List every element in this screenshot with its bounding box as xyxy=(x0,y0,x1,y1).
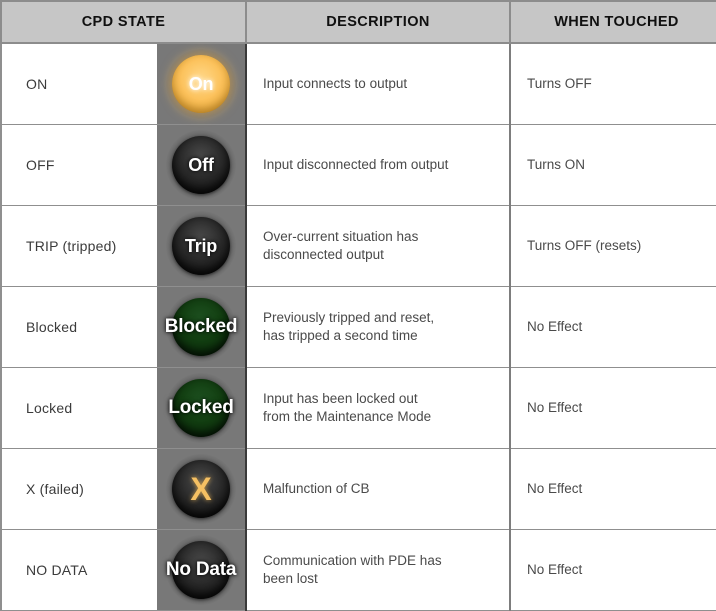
table-row: LockedLockedInput has been locked outfro… xyxy=(1,368,716,449)
indicator-band: Off xyxy=(157,125,245,205)
led-label: Trip xyxy=(185,236,217,257)
column-header-when-touched: WHEN TOUCHED xyxy=(510,1,716,43)
description-line: Input has been locked out xyxy=(263,390,495,408)
state-label: Blocked xyxy=(2,287,157,367)
description-line: Previously tripped and reset, xyxy=(263,309,495,327)
cell-description: Malfunction of CB xyxy=(246,449,510,530)
led-label: Blocked xyxy=(165,316,238,338)
cell-description: Input disconnected from output xyxy=(246,125,510,206)
column-header-description: DESCRIPTION xyxy=(246,1,510,43)
led-indicator-icon[interactable]: Locked xyxy=(172,379,230,437)
cell-when-touched: Turns ON xyxy=(510,125,716,206)
indicator-band: No Data xyxy=(157,530,245,610)
cell-description: Input has been locked outfrom the Mainte… xyxy=(246,368,510,449)
led-indicator-icon[interactable]: No Data xyxy=(172,541,230,599)
led-label: Locked xyxy=(168,397,233,419)
cell-when-touched: Turns OFF xyxy=(510,43,716,125)
led-indicator-icon[interactable]: Blocked xyxy=(172,298,230,356)
cell-cpd-state: BlockedBlocked xyxy=(1,287,246,368)
state-label: OFF xyxy=(2,125,157,205)
cell-cpd-state: X (failed)X xyxy=(1,449,246,530)
cell-description: Previously tripped and reset,has tripped… xyxy=(246,287,510,368)
table-row: NO DATANo DataCommunication with PDE has… xyxy=(1,530,716,611)
state-label: ON xyxy=(2,44,157,124)
cell-when-touched: Turns OFF (resets) xyxy=(510,206,716,287)
when-touched-text: Turns OFF (resets) xyxy=(527,238,641,253)
when-touched-text: Turns ON xyxy=(527,157,585,172)
cpd-state-table: CPD STATE DESCRIPTION WHEN TOUCHED ONOnI… xyxy=(0,0,716,611)
description-line: has tripped a second time xyxy=(263,327,495,345)
description-line: Malfunction of CB xyxy=(263,480,495,498)
cell-cpd-state: TRIP (tripped)Trip xyxy=(1,206,246,287)
led-indicator-icon[interactable]: On xyxy=(172,55,230,113)
cell-cpd-state: ONOn xyxy=(1,43,246,125)
cell-description: Over-current situation hasdisconnected o… xyxy=(246,206,510,287)
indicator-band: Blocked xyxy=(157,287,245,367)
state-label: NO DATA xyxy=(2,530,157,610)
description-line: Communication with PDE has xyxy=(263,552,495,570)
led-indicator-icon[interactable]: X xyxy=(172,460,230,518)
description-line: Input disconnected from output xyxy=(263,156,495,174)
description-line: Input connects to output xyxy=(263,75,495,93)
indicator-band: On xyxy=(157,44,245,124)
led-label: No Data xyxy=(166,559,236,581)
cpd-state-table-container: CPD STATE DESCRIPTION WHEN TOUCHED ONOnI… xyxy=(0,0,716,600)
table-row: OFFOffInput disconnected from outputTurn… xyxy=(1,125,716,206)
when-touched-text: No Effect xyxy=(527,481,582,496)
table-row: BlockedBlockedPreviously tripped and res… xyxy=(1,287,716,368)
indicator-band: Trip xyxy=(157,206,245,286)
indicator-band: Locked xyxy=(157,368,245,448)
state-label: Locked xyxy=(2,368,157,448)
table-header: CPD STATE DESCRIPTION WHEN TOUCHED xyxy=(1,1,716,43)
description-line: Over-current situation has xyxy=(263,228,495,246)
table-row: ONOnInput connects to outputTurns OFF xyxy=(1,43,716,125)
table-row: TRIP (tripped)TripOver-current situation… xyxy=(1,206,716,287)
led-label: Off xyxy=(188,155,213,176)
description-line: from the Maintenance Mode xyxy=(263,408,495,426)
when-touched-text: No Effect xyxy=(527,562,582,577)
description-line: been lost xyxy=(263,570,495,588)
table-body: ONOnInput connects to outputTurns OFFOFF… xyxy=(1,43,716,611)
cell-cpd-state: NO DATANo Data xyxy=(1,530,246,611)
led-label: X xyxy=(190,471,211,508)
led-indicator-icon[interactable]: Trip xyxy=(172,217,230,275)
cell-cpd-state: OFFOff xyxy=(1,125,246,206)
when-touched-text: Turns OFF xyxy=(527,76,592,91)
description-line: disconnected output xyxy=(263,246,495,264)
cell-when-touched: No Effect xyxy=(510,287,716,368)
header-row: CPD STATE DESCRIPTION WHEN TOUCHED xyxy=(1,1,716,43)
when-touched-text: No Effect xyxy=(527,319,582,334)
table-row: X (failed)XMalfunction of CBNo Effect xyxy=(1,449,716,530)
when-touched-text: No Effect xyxy=(527,400,582,415)
led-indicator-icon[interactable]: Off xyxy=(172,136,230,194)
indicator-band: X xyxy=(157,449,245,529)
column-header-cpd-state: CPD STATE xyxy=(1,1,246,43)
cell-description: Communication with PDE hasbeen lost xyxy=(246,530,510,611)
state-label: TRIP (tripped) xyxy=(2,206,157,286)
state-label: X (failed) xyxy=(2,449,157,529)
cell-when-touched: No Effect xyxy=(510,530,716,611)
cell-when-touched: No Effect xyxy=(510,449,716,530)
led-label: On xyxy=(189,74,214,95)
cell-when-touched: No Effect xyxy=(510,368,716,449)
cell-description: Input connects to output xyxy=(246,43,510,125)
cell-cpd-state: LockedLocked xyxy=(1,368,246,449)
